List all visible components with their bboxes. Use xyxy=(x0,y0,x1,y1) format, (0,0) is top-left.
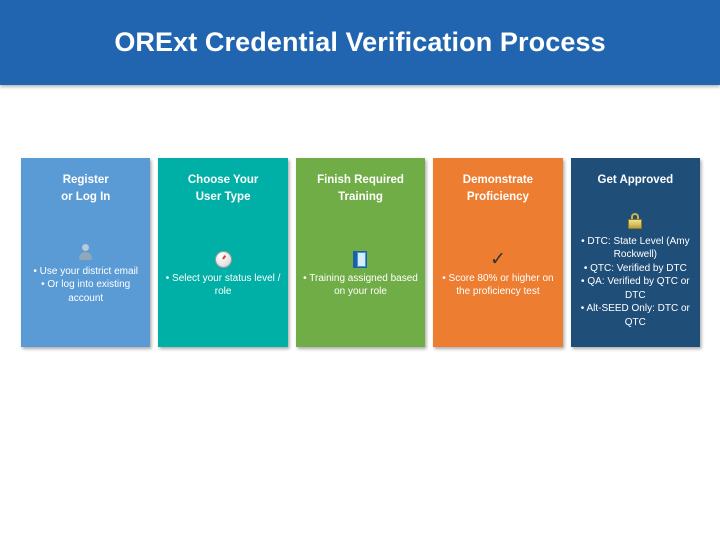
step-card-training[interactable]: Finish Required Training • Training assi… xyxy=(296,158,425,347)
person-icon xyxy=(78,243,93,263)
page-title: ORExt Credential Verification Process xyxy=(114,28,605,58)
step-title: Register or Log In xyxy=(61,172,110,205)
step-card-approval[interactable]: Get Approved • DTC: State Level (Amy Roc… xyxy=(571,158,700,347)
step-title: Finish Required Training xyxy=(317,172,404,205)
step-card-register[interactable]: Register or Log In • Use your district e… xyxy=(21,158,150,347)
step-body: • Use your district email • Or log into … xyxy=(27,265,144,310)
step-card-user-type[interactable]: Choose Your User Type • Select your stat… xyxy=(158,158,287,347)
compass-icon xyxy=(215,250,232,270)
step-body: • Training assigned based on your role xyxy=(302,272,419,303)
step-title: Get Approved xyxy=(598,172,674,189)
book-icon xyxy=(353,250,368,270)
lock-icon xyxy=(628,211,642,231)
check-icon: ✓ xyxy=(490,250,506,270)
slide-header: ORExt Credential Verification Process xyxy=(0,0,720,85)
process-steps: Register or Log In • Use your district e… xyxy=(21,158,700,347)
step-body: • Select your status level / role xyxy=(164,272,281,303)
step-body: • Score 80% or higher on the proficiency… xyxy=(439,272,556,303)
step-title: Choose Your User Type xyxy=(188,172,259,205)
step-body: • DTC: State Level (Amy Rockwell) • QTC:… xyxy=(577,235,694,334)
step-title: Demonstrate Proficiency xyxy=(463,172,533,205)
step-card-proficiency[interactable]: Demonstrate Proficiency ✓ • Score 80% or… xyxy=(433,158,562,347)
